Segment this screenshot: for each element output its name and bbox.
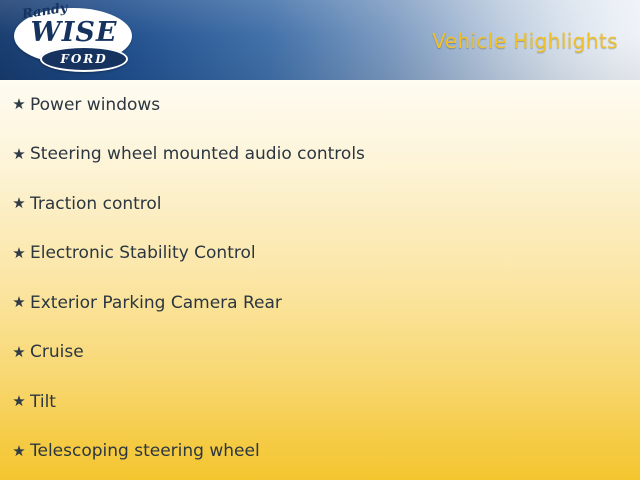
list-item-label: Traction control: [30, 194, 162, 214]
list-item: ★ Electronic Stability Control: [0, 229, 640, 279]
list-item: ★ Steering wheel mounted audio controls: [0, 130, 640, 180]
list-item: ★ Telescoping steering wheel: [0, 427, 640, 477]
list-item: ★ Tilt: [0, 377, 640, 427]
vehicle-highlights-slide: Randy WISE FORD Vehicle Highlights ★ Pow…: [0, 0, 640, 480]
list-item-label: Cruise: [30, 342, 84, 362]
logo-main-text: WISE: [24, 19, 124, 46]
star-icon: ★: [8, 444, 30, 459]
list-item: ★ Traction control: [0, 179, 640, 229]
list-item-label: Electronic Stability Control: [30, 243, 256, 263]
list-item: ★ Exterior Parking Camera Rear: [0, 278, 640, 328]
list-item-label: Telescoping steering wheel: [30, 441, 260, 461]
list-item: ★ Power windows: [0, 80, 640, 130]
star-icon: ★: [8, 97, 30, 112]
logo-ford-badge: FORD: [40, 46, 128, 72]
list-item-label: Power windows: [30, 95, 160, 115]
star-icon: ★: [8, 345, 30, 360]
list-item-label: Steering wheel mounted audio controls: [30, 144, 365, 164]
star-icon: ★: [8, 394, 30, 409]
page-title: Vehicle Highlights: [432, 29, 618, 53]
slide-header: Randy WISE FORD Vehicle Highlights: [0, 0, 640, 80]
logo-ford-badge-text: FORD: [42, 48, 126, 70]
star-icon: ★: [8, 147, 30, 162]
list-item-label: Tilt: [30, 392, 56, 412]
star-icon: ★: [8, 246, 30, 261]
star-icon: ★: [8, 196, 30, 211]
vehicle-highlights-list: ★ Power windows ★ Steering wheel mounted…: [0, 80, 640, 480]
list-item-label: Exterior Parking Camera Rear: [30, 293, 282, 313]
dealer-logo: Randy WISE FORD: [8, 2, 140, 80]
list-item: ★ Cruise: [0, 328, 640, 378]
star-icon: ★: [8, 295, 30, 310]
